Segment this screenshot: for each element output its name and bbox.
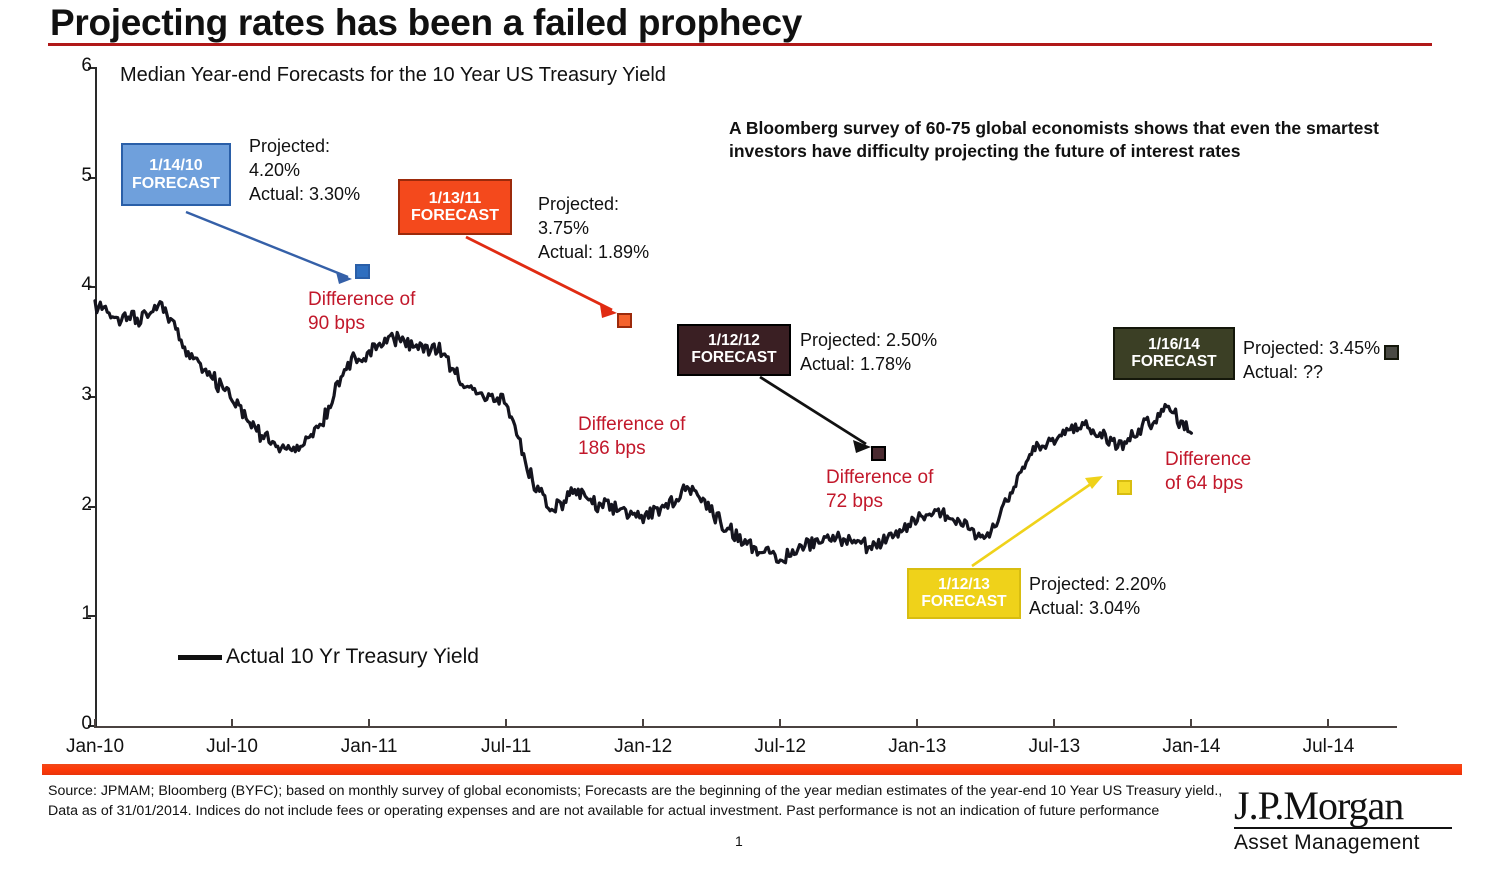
projected-label-2011: Projected: (538, 193, 649, 217)
arrow-forecast-2010 (186, 212, 352, 284)
forecast-box-2012[interactable]: 1/12/12 FORECAST (677, 324, 791, 376)
difference-label-2012: Difference of 72 bps (826, 466, 933, 515)
difference-label-2011: Difference of 186 bps (578, 413, 685, 462)
x-tick (231, 719, 233, 728)
x-tick (1327, 719, 1329, 728)
chart-subtitle: Median Year-end Forecasts for the 10 Yea… (120, 64, 666, 87)
forecast-word-2012: FORECAST (691, 350, 776, 367)
x-tick (94, 719, 96, 728)
arrow-forecast-2013 (972, 476, 1103, 566)
x-axis (95, 726, 1397, 728)
x-tick (1053, 719, 1055, 728)
x-tick-label: Jul-14 (1303, 736, 1355, 758)
actual-value-2011: Actual: 1.89% (538, 241, 649, 265)
y-tick-label: 2 (52, 494, 92, 516)
forecast-values-2011: Projected: 3.75% Actual: 1.89% (538, 193, 649, 264)
footer-accent-bar (42, 764, 1462, 775)
y-axis (95, 68, 97, 728)
legend-label: Actual 10 Yr Treasury Yield (226, 645, 479, 669)
diff-line-1-2011: Difference of (578, 413, 685, 437)
page-title: Projecting rates has been a failed proph… (50, 2, 802, 44)
title-underline (48, 43, 1432, 46)
y-tick-label: 5 (52, 165, 92, 187)
forecast-word-2013: FORECAST (921, 594, 1006, 611)
actual-value-2012: Actual: 1.78% (800, 353, 937, 377)
forecast-box-2011[interactable]: 1/13/11 FORECAST (398, 179, 512, 235)
forecast-marker-2014 (1384, 345, 1399, 360)
projected-value-2011: 3.75% (538, 217, 649, 241)
bloomberg-callout: A Bloomberg survey of 60-75 global econo… (729, 117, 1429, 164)
forecast-date-2012: 1/12/12 (708, 333, 760, 350)
diff-line-2-2013: of 64 bps (1165, 472, 1251, 496)
forecast-word-2010: FORECAST (132, 175, 220, 192)
forecast-word-2011: FORECAST (411, 207, 499, 224)
x-tick-label: Jan-14 (1162, 736, 1220, 758)
forecast-word-2014: FORECAST (1131, 354, 1216, 371)
diff-line-1-2012: Difference of (826, 466, 933, 490)
diff-line-2-2012: 72 bps (826, 490, 933, 514)
brand-logo: J.P.Morgan Asset Management (1234, 786, 1464, 855)
x-tick-label: Jul-12 (754, 736, 806, 758)
forecast-values-2012: Projected: 2.50% Actual: 1.78% (800, 329, 937, 377)
x-tick-label: Jan-10 (66, 736, 124, 758)
projected-label-2012: Projected: 2.50% (800, 329, 937, 353)
forecast-marker-2012 (871, 446, 886, 461)
x-tick-label: Jan-13 (888, 736, 946, 758)
actual-value-2013: Actual: 3.04% (1029, 597, 1166, 621)
forecast-box-2013[interactable]: 1/12/13 FORECAST (907, 568, 1021, 619)
forecast-marker-2013 (1117, 480, 1132, 495)
forecast-values-2010: Projected: 4.20% Actual: 3.30% (249, 135, 360, 206)
x-tick (1190, 719, 1192, 728)
diff-line-2-2010: 90 bps (308, 312, 415, 336)
actual-value-2010: Actual: 3.30% (249, 183, 360, 207)
legend-line-swatch (178, 655, 222, 660)
y-tick-label: 1 (52, 603, 92, 625)
forecast-box-2014[interactable]: 1/16/14 FORECAST (1113, 327, 1235, 380)
arrow-forecast-2012 (760, 377, 871, 453)
forecast-date-2011: 1/13/11 (429, 190, 482, 207)
actual-value-2014: Actual: ?? (1243, 361, 1380, 385)
y-tick-label: 6 (52, 55, 92, 77)
forecast-date-2010: 1/14/10 (149, 157, 202, 174)
forecast-values-2013: Projected: 2.20% Actual: 3.04% (1029, 573, 1166, 621)
forecast-box-2010[interactable]: 1/14/10 FORECAST (121, 143, 231, 206)
diff-line-1-2010: Difference of (308, 288, 415, 312)
brand-name: J.P.Morgan (1234, 786, 1464, 826)
y-tick-label: 3 (52, 384, 92, 406)
x-tick (505, 719, 507, 728)
forecast-values-2014: Projected: 3.45% Actual: ?? (1243, 337, 1380, 385)
x-tick-label: Jan-11 (341, 736, 398, 758)
brand-tagline: Asset Management (1234, 831, 1464, 855)
forecast-date-2014: 1/16/14 (1148, 337, 1200, 354)
difference-label-2010: Difference of 90 bps (308, 288, 415, 337)
x-tick (916, 719, 918, 728)
y-tick-label: 4 (52, 274, 92, 296)
diff-line-2-2011: 186 bps (578, 437, 685, 461)
page-number: 1 (735, 833, 743, 849)
x-tick-label: Jan-12 (614, 736, 672, 758)
x-tick (368, 719, 370, 728)
projected-label-2014: Projected: 3.45% (1243, 337, 1380, 361)
difference-label-2013: Difference of 64 bps (1165, 448, 1251, 497)
source-note: Source: JPMAM; Bloomberg (BYFC); based o… (48, 781, 1228, 821)
x-tick (642, 719, 644, 728)
forecast-marker-2011 (617, 313, 632, 328)
x-tick (779, 719, 781, 728)
projected-label-2010: Projected: (249, 135, 360, 159)
x-tick-label: Jul-11 (481, 736, 531, 758)
chart-legend: Actual 10 Yr Treasury Yield (178, 645, 479, 669)
diff-line-1-2013: Difference (1165, 448, 1251, 472)
slide-root: Projecting rates has been a failed proph… (0, 0, 1504, 896)
projected-value-2010: 4.20% (249, 159, 360, 183)
y-tick-label: 0 (52, 713, 92, 735)
forecast-date-2013: 1/12/13 (938, 577, 990, 594)
forecast-marker-2010 (355, 264, 370, 279)
projected-label-2013: Projected: 2.20% (1029, 573, 1166, 597)
x-tick-label: Jul-13 (1028, 736, 1080, 758)
x-tick-label: Jul-10 (206, 736, 258, 758)
